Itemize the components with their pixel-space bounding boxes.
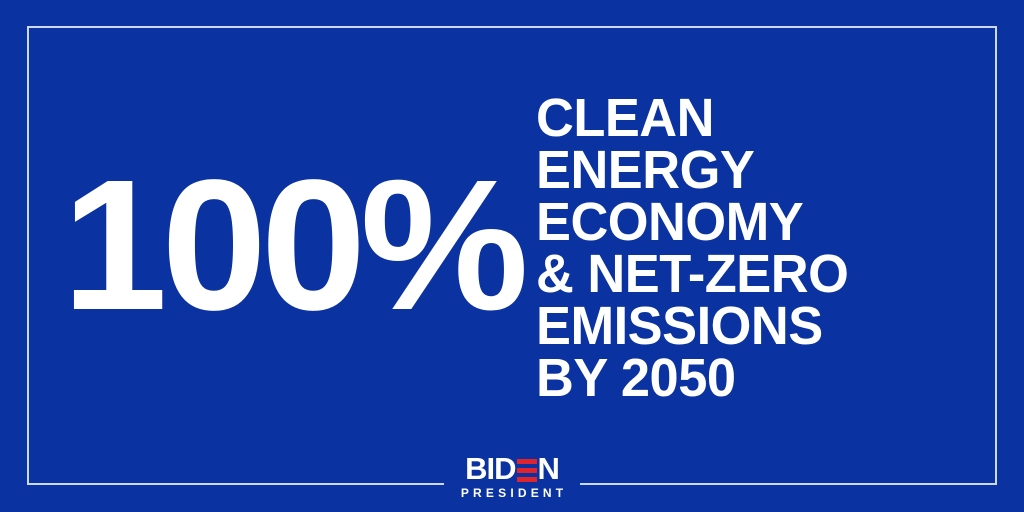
logo-stripe-2 bbox=[517, 468, 537, 473]
headline-line-1: CLEAN bbox=[536, 92, 953, 144]
headline-line-3: ECONOMY bbox=[536, 196, 953, 248]
campaign-graphic: 100% CLEAN ENERGY ECONOMY & NET-ZERO EMI… bbox=[0, 0, 1024, 512]
biden-campaign-logo: BID N PRESIDENT bbox=[0, 453, 1024, 500]
logo-wordmark-after: N bbox=[538, 453, 559, 484]
headline-line-2: ENERGY bbox=[536, 144, 953, 196]
logo-stripe-3 bbox=[517, 477, 537, 482]
logo-wordmark: BID N bbox=[465, 453, 559, 484]
headline-line-4: & NET-ZERO bbox=[536, 248, 953, 300]
logo-tagline: PRESIDENT bbox=[457, 487, 568, 500]
headline-line-6: BY 2050 bbox=[536, 352, 953, 404]
headline-line-5: EMISSIONS bbox=[536, 300, 953, 352]
logo-striped-e-icon bbox=[517, 459, 537, 482]
logo-stripe-1 bbox=[517, 459, 537, 464]
headline-block: CLEAN ENERGY ECONOMY & NET-ZERO EMISSION… bbox=[536, 92, 966, 404]
logo-wordmark-before: BID bbox=[465, 453, 515, 484]
stat-percentage: 100% bbox=[62, 173, 523, 318]
stat-block: 100% bbox=[62, 176, 532, 316]
